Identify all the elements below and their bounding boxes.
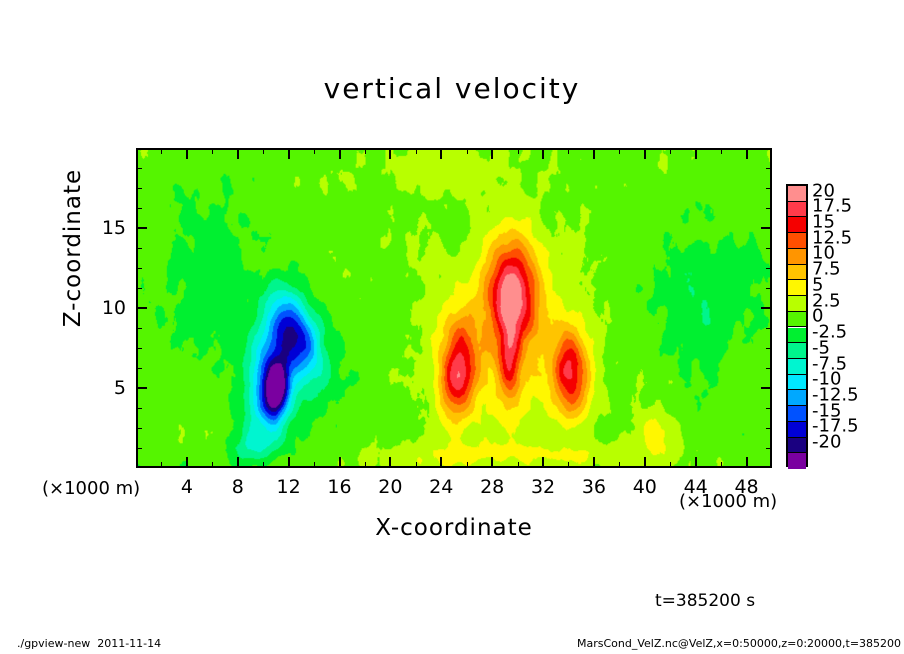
y-axis-tick: [136, 428, 142, 429]
colorbar-band: [788, 249, 806, 265]
y-axis-tick: [766, 208, 772, 209]
x-axis-tick: [518, 462, 519, 468]
x-axis-tick: [389, 148, 391, 159]
x-axis-tick: [389, 457, 391, 468]
x-axis-tick: [644, 148, 646, 159]
x-tick-label: 20: [378, 476, 402, 498]
y-axis-tick: [766, 368, 772, 369]
x-axis-tick: [288, 457, 290, 468]
x-axis-tick: [542, 148, 544, 159]
colorbar-band: [788, 265, 806, 281]
x-axis-tick: [365, 148, 366, 154]
x-axis-tick: [161, 148, 162, 154]
x-tick-label: 4: [181, 476, 193, 498]
y-axis-tick: [136, 188, 142, 189]
x-unit-label: (×1000 m): [679, 491, 777, 512]
plot-stage: vertical velocity 4812162024283236404448…: [0, 0, 904, 654]
y-axis-tick: [136, 208, 142, 209]
colorbar-band: [788, 328, 806, 344]
x-axis-tick: [644, 457, 646, 468]
x-axis-tick: [440, 148, 442, 159]
x-axis-tick: [288, 148, 290, 159]
colorbar: [786, 184, 808, 467]
x-axis-tick: [467, 148, 468, 154]
colorbar-band: [788, 453, 806, 469]
x-axis-tick: [568, 148, 569, 154]
y-axis-tick: [766, 168, 772, 169]
colorbar-band: [788, 406, 806, 422]
y-tick-label: 5: [84, 377, 126, 399]
y-axis-tick: [766, 428, 772, 429]
colorbar-band: [788, 217, 806, 233]
y-axis-tick: [761, 387, 772, 389]
y-axis-tick: [136, 368, 142, 369]
y-axis-tick: [766, 408, 772, 409]
x-axis-tick: [263, 148, 264, 154]
x-axis-tick: [721, 462, 722, 468]
y-axis-tick: [761, 227, 772, 229]
x-axis-tick: [619, 148, 620, 154]
x-axis-tick: [161, 462, 162, 468]
x-axis-tick: [670, 462, 671, 468]
x-axis-tick: [695, 148, 697, 159]
x-axis-tick: [365, 462, 366, 468]
y-axis-tick: [136, 448, 142, 449]
z-unit-label: (×1000 m): [42, 478, 140, 499]
x-tick-label: 8: [232, 476, 244, 498]
x-axis-title: X-coordinate: [136, 515, 772, 541]
y-axis-tick: [136, 248, 142, 249]
x-axis-tick: [314, 148, 315, 154]
command-footer: ./gpview-new 2011-11-14: [17, 637, 161, 650]
y-axis-tick: [136, 268, 142, 269]
y-axis-tick: [766, 248, 772, 249]
y-axis-tick: [766, 268, 772, 269]
x-axis-tick: [593, 457, 595, 468]
colorbar-band: [788, 202, 806, 218]
y-axis-tick: [136, 288, 142, 289]
x-axis-tick: [542, 457, 544, 468]
colorbar-band: [788, 359, 806, 375]
x-axis-tick: [619, 462, 620, 468]
colorbar-band: [788, 296, 806, 312]
x-axis-tick: [237, 457, 239, 468]
y-axis-tick: [766, 188, 772, 189]
x-axis-tick: [568, 462, 569, 468]
y-axis-tick: [136, 408, 142, 409]
y-axis-title: Z-coordinate: [60, 148, 86, 348]
x-axis-tick: [416, 462, 417, 468]
x-tick-label: 12: [277, 476, 301, 498]
x-axis-tick: [212, 148, 213, 154]
y-axis-tick: [136, 387, 147, 389]
x-axis-tick: [746, 148, 748, 159]
y-axis-tick: [136, 307, 147, 309]
colorbar-band: [788, 280, 806, 296]
colorbar-band: [788, 422, 806, 438]
y-tick-label: 15: [84, 217, 126, 239]
x-axis-tick: [416, 148, 417, 154]
x-axis-tick: [440, 457, 442, 468]
colorbar-band: [788, 233, 806, 249]
page-title: vertical velocity: [0, 72, 904, 105]
colorbar-band: [788, 390, 806, 406]
x-axis-tick: [212, 462, 213, 468]
x-axis-tick: [339, 457, 341, 468]
y-axis-tick: [136, 227, 147, 229]
x-axis-tick: [721, 148, 722, 154]
heatmap-canvas: [138, 150, 770, 466]
x-axis-tick: [593, 148, 595, 159]
colorbar-band: [788, 343, 806, 359]
x-axis-tick: [491, 148, 493, 159]
colorbar-band: [788, 375, 806, 391]
x-tick-label: 16: [327, 476, 351, 498]
x-axis-tick: [670, 148, 671, 154]
y-axis-tick: [761, 307, 772, 309]
x-axis-tick: [263, 462, 264, 468]
y-axis-tick: [136, 328, 142, 329]
x-tick-label: 28: [480, 476, 504, 498]
x-tick-label: 36: [582, 476, 606, 498]
x-axis-tick: [186, 457, 188, 468]
colorbar-tick-label: -20: [812, 432, 841, 453]
x-axis-tick: [491, 457, 493, 468]
y-tick-label: 10: [84, 297, 126, 319]
x-axis-tick: [518, 148, 519, 154]
heatmap-plot-area: [136, 148, 772, 468]
y-axis-tick: [766, 288, 772, 289]
x-axis-tick: [339, 148, 341, 159]
colorbar-band: [788, 312, 806, 328]
colorbar-band: [788, 186, 806, 202]
x-axis-tick: [695, 457, 697, 468]
x-axis-tick: [314, 462, 315, 468]
y-axis-tick: [766, 448, 772, 449]
x-tick-label: 24: [429, 476, 453, 498]
x-axis-tick: [237, 148, 239, 159]
y-axis-tick: [136, 348, 142, 349]
x-tick-label: 32: [531, 476, 555, 498]
x-axis-tick: [467, 462, 468, 468]
y-axis-tick: [136, 168, 142, 169]
colorbar-band: [788, 438, 806, 454]
time-stamp: t=385200 s: [655, 591, 755, 611]
x-axis-tick: [746, 457, 748, 468]
x-tick-label: 40: [633, 476, 657, 498]
y-axis-tick: [766, 348, 772, 349]
x-axis-tick: [186, 148, 188, 159]
y-axis-tick: [766, 328, 772, 329]
source-footer: MarsCond_VelZ.nc@VelZ,x=0:50000,z=0:2000…: [577, 637, 901, 650]
